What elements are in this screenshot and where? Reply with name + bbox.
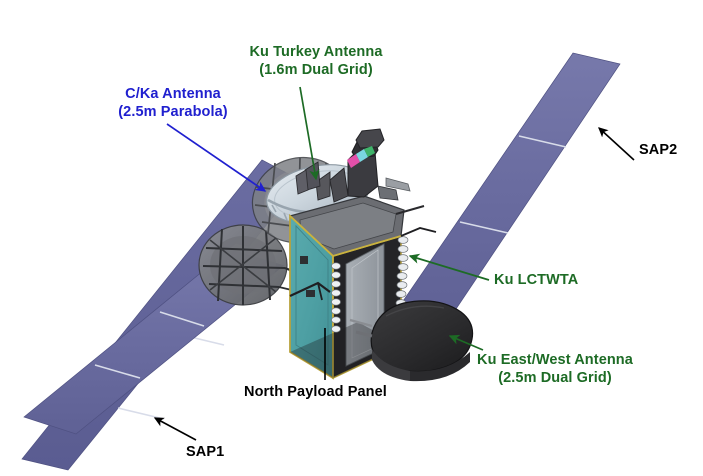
callout-line-1: North Payload Panel xyxy=(244,384,387,400)
callout-label-north-payload-panel: North Payload Panel xyxy=(244,384,387,402)
callout-line-1: SAP1 xyxy=(186,444,224,460)
callout-label-ku-lctwta: Ku LCTWTA xyxy=(494,272,578,290)
callout-line-1: Ku Turkey Antenna xyxy=(249,44,382,60)
leader-cka xyxy=(167,124,265,191)
callout-line-1: Ku East/West Antenna xyxy=(477,352,633,368)
callout-label-cka-antenna: C/Ka Antenna (2.5m Parabola) xyxy=(88,86,258,121)
callout-line-2: (1.6m Dual Grid) xyxy=(227,62,405,80)
callout-line-2: (2.5m Dual Grid) xyxy=(457,370,653,388)
leader-sap2 xyxy=(599,128,634,160)
callout-line-2: (2.5m Parabola) xyxy=(88,104,258,122)
callout-line-1: C/Ka Antenna xyxy=(125,86,221,102)
callout-label-ku-turkey-antenna: Ku Turkey Antenna (1.6m Dual Grid) xyxy=(227,44,405,79)
leader-sap1 xyxy=(155,418,196,440)
callout-line-1: Ku LCTWTA xyxy=(494,272,578,288)
callout-label-sap1: SAP1 xyxy=(186,444,224,462)
satellite-diagram-canvas: Ku Turkey Antenna (1.6m Dual Grid) C/Ka … xyxy=(0,0,703,476)
callout-label-sap2: SAP2 xyxy=(639,142,677,160)
callout-line-1: SAP2 xyxy=(639,142,677,158)
callout-label-ku-east-west-antenna: Ku East/West Antenna (2.5m Dual Grid) xyxy=(457,352,653,387)
